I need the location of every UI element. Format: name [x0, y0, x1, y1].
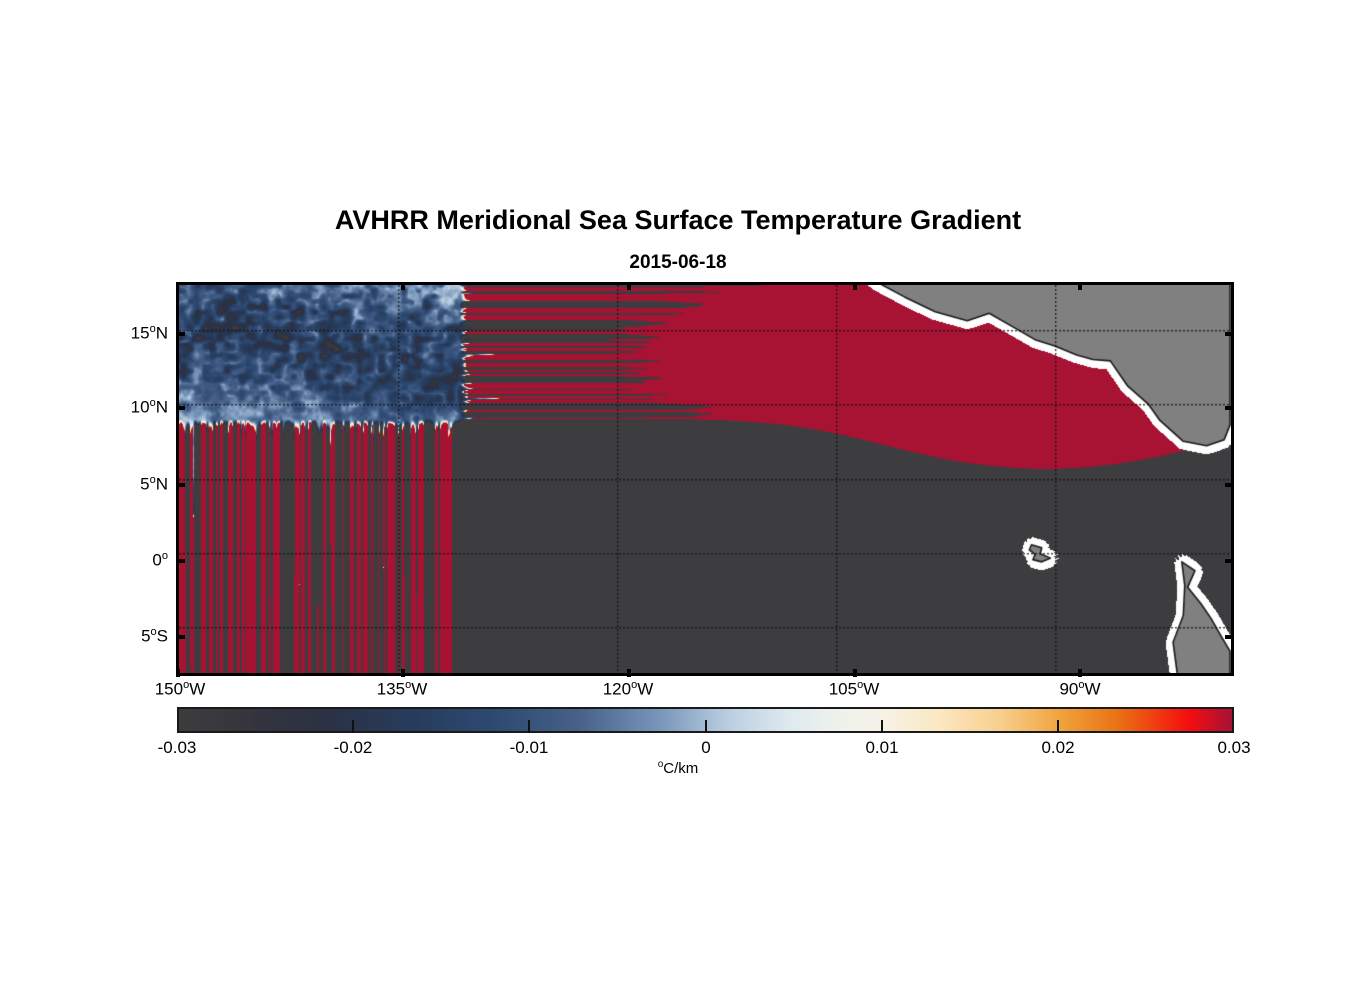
- colorbar-label-0.02: 0.02: [998, 738, 1118, 758]
- y-label-15N: 15oN: [48, 323, 168, 344]
- colorbar-label--0.02: -0.02: [293, 738, 413, 758]
- x-label-135W: 135oW: [332, 679, 472, 700]
- y-tick-15N: [176, 332, 185, 336]
- x-label-150W: 150oW: [110, 679, 250, 700]
- x-tick-top-135W: [401, 282, 405, 290]
- x-label-120W: 120oW: [558, 679, 698, 700]
- colorbar-tick-0: [705, 720, 707, 733]
- y-label-15N-dir: N: [156, 324, 168, 343]
- colorbar-units-label: oC/km: [0, 759, 1356, 777]
- figure-date-subtitle: 2015-06-18: [0, 252, 1356, 274]
- x-tick-top-105W: [853, 282, 857, 290]
- x-tick-top-90W: [1078, 282, 1082, 290]
- x-label-105W-dir: W: [863, 680, 879, 699]
- colorbar-tick--0.01: [528, 720, 530, 733]
- figure-title: AVHRR Meridional Sea Surface Temperature…: [0, 205, 1356, 236]
- x-tick-135W: [401, 669, 405, 677]
- x-label-120W-dir: W: [637, 680, 653, 699]
- y-tick-right-0: [1225, 559, 1234, 563]
- y-label-0-value: 0: [152, 551, 161, 570]
- x-tick-150W: [176, 669, 180, 677]
- y-tick-5S: [176, 635, 185, 639]
- x-label-90W-value: 90: [1059, 680, 1078, 699]
- y-label-5N-dir: N: [156, 475, 168, 494]
- y-tick-right-5S: [1225, 635, 1234, 639]
- y-label-5N-value: 5: [140, 475, 149, 494]
- y-tick-right-10N: [1225, 406, 1234, 410]
- colorbar-label--0.01: -0.01: [469, 738, 589, 758]
- colorbar-label-0.03: 0.03: [1174, 738, 1294, 758]
- x-label-90W-dir: W: [1085, 680, 1101, 699]
- x-label-135W-value: 135: [377, 680, 405, 699]
- x-label-150W-dir: W: [189, 680, 205, 699]
- y-label-5S-value: 5: [141, 627, 150, 646]
- x-label-150W-value: 150: [155, 680, 183, 699]
- y-tick-10N: [176, 406, 185, 410]
- sst-gradient-heatmap: [179, 285, 1231, 673]
- x-label-120W-value: 120: [603, 680, 631, 699]
- degree-symbol: o: [162, 550, 168, 562]
- x-tick-120W: [627, 669, 631, 677]
- colorbar-label--0.03: -0.03: [117, 738, 237, 758]
- y-tick-right-15N: [1225, 332, 1234, 336]
- y-tick-0: [176, 559, 185, 563]
- x-tick-105W: [853, 669, 857, 677]
- colorbar-tick-0.02: [1057, 720, 1059, 733]
- x-label-135W-dir: W: [411, 680, 427, 699]
- y-tick-5N: [176, 483, 185, 487]
- x-tick-90W: [1078, 669, 1082, 677]
- figure-canvas: AVHRR Meridional Sea Surface Temperature…: [0, 0, 1356, 1000]
- colorbar-label-0: 0: [646, 738, 766, 758]
- colorbar-units-text: C/km: [663, 760, 698, 777]
- y-label-5S-dir: S: [157, 627, 168, 646]
- colorbar-tick-0.01: [881, 720, 883, 733]
- y-label-10N: 10oN: [48, 397, 168, 418]
- x-label-90W: 90oW: [1010, 679, 1150, 700]
- y-label-15N-value: 15: [131, 324, 150, 343]
- y-tick-right-5N: [1225, 483, 1234, 487]
- x-label-105W: 105oW: [784, 679, 924, 700]
- map-axes: [176, 282, 1234, 676]
- y-label-10N-value: 10: [131, 398, 150, 417]
- y-label-0: 0o: [48, 550, 168, 571]
- y-label-10N-dir: N: [156, 398, 168, 417]
- colorbar-tick--0.02: [352, 720, 354, 733]
- x-tick-top-120W: [627, 282, 631, 290]
- y-label-5N: 5oN: [48, 474, 168, 495]
- colorbar-label-0.01: 0.01: [822, 738, 942, 758]
- x-label-105W-value: 105: [829, 680, 857, 699]
- y-label-5S: 5oS: [48, 626, 168, 647]
